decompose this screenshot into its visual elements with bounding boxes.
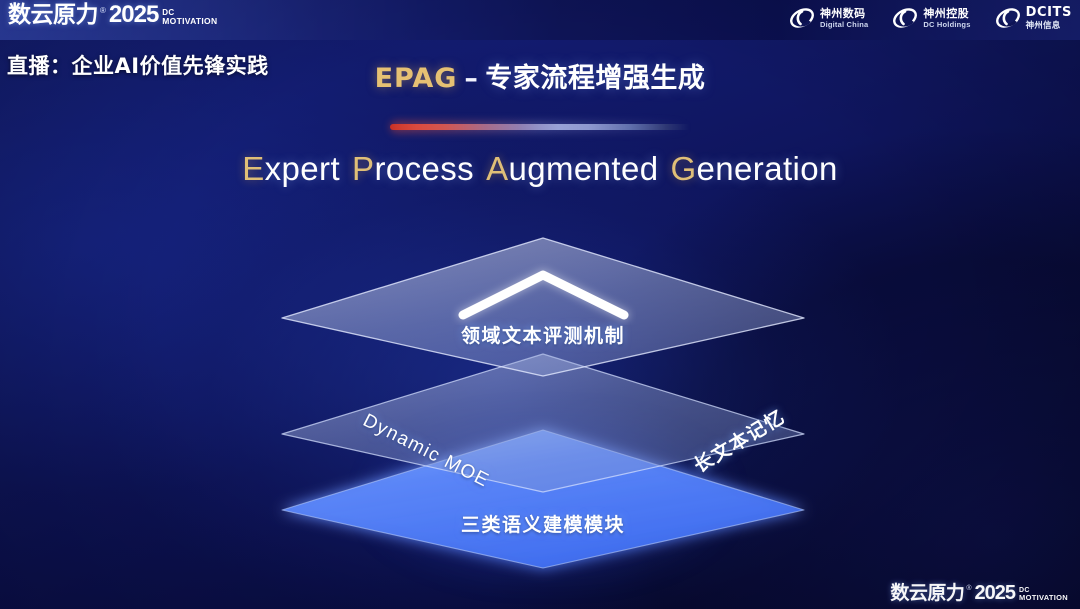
watermark-registered-mark-icon: ® — [966, 583, 971, 595]
watermark-name-cn: 数云原力 — [890, 583, 964, 603]
registered-mark-icon: ® — [100, 4, 106, 18]
title-acronym: EPAG — [375, 63, 458, 94]
chevron-up-icon — [451, 263, 636, 330]
subtitle-word-generation: Generation — [670, 150, 837, 187]
spiral-logo-icon — [995, 5, 1021, 31]
layer-label-bottom: 三类语义建模模块 — [268, 510, 818, 537]
subtitle-rest-augmented: ugmented — [508, 150, 658, 187]
watermark-dc-motivation: DC MOTIVATION — [1019, 587, 1068, 601]
title-dash: – — [464, 63, 478, 94]
title-chinese: 专家流程增强生成 — [485, 63, 705, 94]
logo-digital-china: 神州数码 Digital China — [789, 5, 868, 31]
logo-dc-holdings: 神州控股 DC Holdings — [892, 5, 970, 31]
subtitle-rest-process: rocess — [374, 150, 474, 187]
subtitle-cap-e: E — [242, 150, 264, 187]
subtitle-cap-p: P — [352, 150, 374, 187]
subtitle-word-augmented: Augmented — [486, 150, 658, 187]
logo-text: DCITS 神州信息 — [1026, 6, 1072, 30]
live-stream-label: 直播：企业AI价值先锋实践 — [7, 50, 269, 80]
brand-year: 2025 — [109, 3, 158, 27]
logo-name-cn: DCITS — [1026, 6, 1072, 19]
subtitle-rest-generation: eneration — [697, 150, 838, 187]
logo-text: 神州数码 Digital China — [820, 8, 868, 29]
subtitle-word-expert: Expert — [242, 150, 340, 187]
presentation-slide: 数云原力 ® 2025 DC MOTIVATION 直播：企业AI价值先锋实践 … — [0, 0, 1080, 609]
subtitle-word-process: Process — [352, 150, 474, 187]
watermark-logo: 数云原力 ® 2025 DC MOTIVATION — [890, 583, 1068, 603]
watermark-motivation-label: MOTIVATION — [1019, 594, 1068, 601]
subtitle-expansion: ExpertProcessAugmentedGeneration — [0, 150, 1080, 188]
brand-motivation-label: MOTIVATION — [162, 17, 217, 25]
brand-name-cn: 数云原力 — [8, 3, 98, 27]
logo-text: 神州控股 DC Holdings — [923, 8, 970, 29]
logo-name-en: 神州信息 — [1026, 21, 1072, 30]
subtitle-rest-expert: xpert — [265, 150, 340, 187]
logo-dcits: DCITS 神州信息 — [995, 5, 1072, 31]
brand-dc-motivation: DC MOTIVATION — [162, 9, 217, 25]
logo-name-cn: 神州控股 — [923, 8, 970, 19]
logo-name-en: Digital China — [820, 21, 868, 29]
subtitle-cap-a: A — [486, 150, 508, 187]
brand-logo: 数云原力 ® 2025 DC MOTIVATION — [8, 3, 217, 27]
layered-architecture-diagram: 领域文本评测机制 Dynamic MOE 长文本记忆 三类语义建模模块 — [268, 228, 818, 578]
spiral-logo-icon — [789, 5, 815, 31]
logo-name-en: DC Holdings — [923, 21, 970, 29]
corporate-logo-group: 神州数码 Digital China 神州控股 DC Holdings — [789, 5, 1072, 31]
gradient-divider — [390, 124, 690, 130]
subtitle-cap-g: G — [670, 150, 696, 187]
layer-label-top: 领域文本评测机制 — [268, 321, 818, 348]
watermark-year: 2025 — [975, 583, 1016, 603]
logo-name-cn: 神州数码 — [820, 8, 868, 19]
spiral-logo-icon — [892, 5, 918, 31]
